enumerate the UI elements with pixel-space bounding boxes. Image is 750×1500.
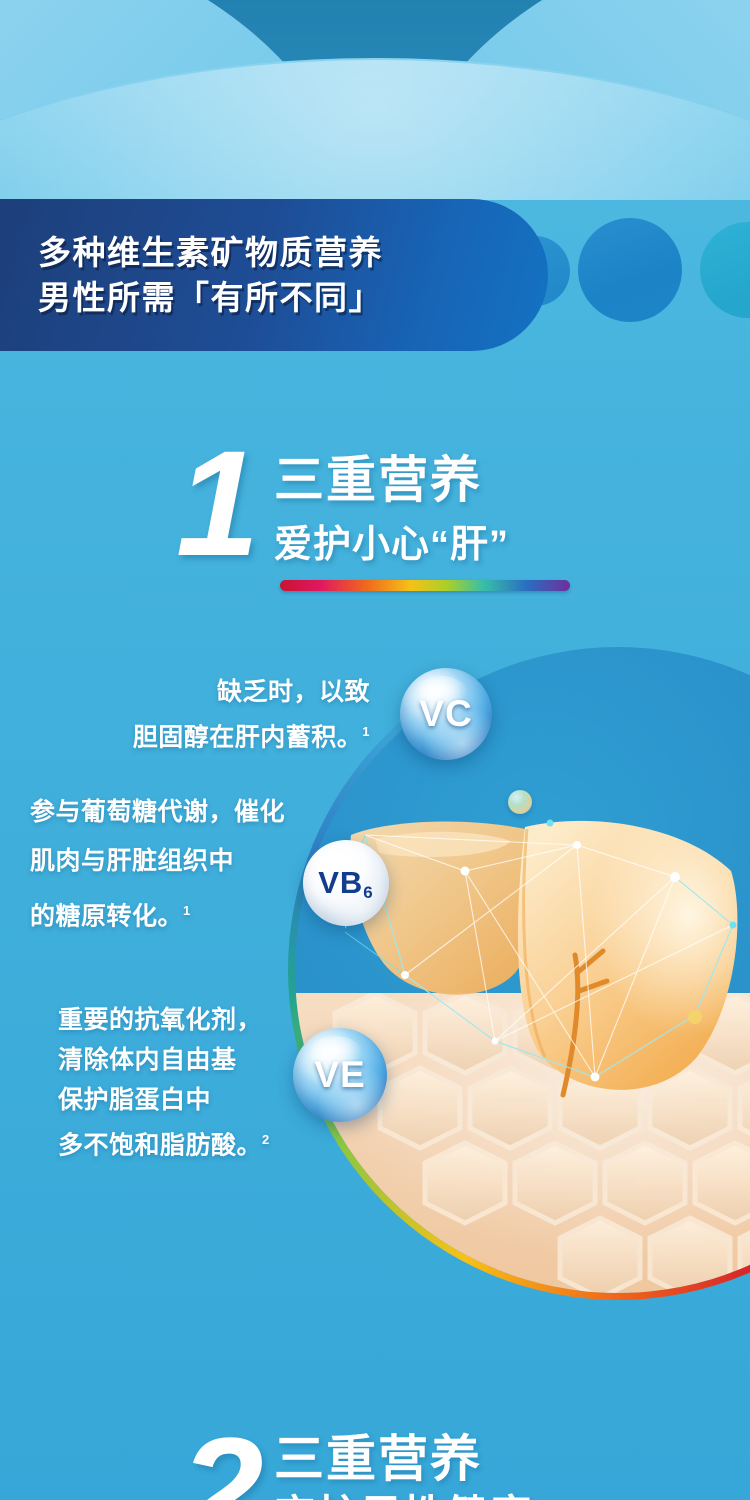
mini-bubble-icon (508, 790, 532, 814)
nutrient-vb6-line-3-text: 的糖原转化。 (30, 902, 183, 930)
nutrient-vb6-line-3: 的糖原转化。1 (30, 886, 320, 941)
nutrient-vc-line-2: 胆固醇在肝内蓄积。1 (120, 712, 370, 757)
section-1-heading: 1 三重营养 爱护小心“肝” (0, 420, 750, 605)
vitamin-badge-vb6-label: VB6 (318, 865, 374, 901)
top-decoration (0, 0, 750, 200)
nutrient-ve-footnote: 2 (262, 1132, 270, 1147)
nutrient-vc-footnote: 1 (362, 724, 370, 739)
nutrient-ve-line-2: 清除体内自由基 (58, 1040, 288, 1080)
product-detail-page: 多种维生素矿物质营养 男性所需「有所不同」 1 三重营养 爱护小心“肝” (0, 0, 750, 1500)
section-1-title: 三重营养 (274, 452, 482, 508)
nutrient-text-vb6: 参与葡萄糖代谢，催化 肌肉与肝脏组织中 的糖原转化。1 (30, 788, 320, 941)
section-2-heading: 2 三重营养 守护男性健康 (0, 1415, 750, 1500)
vitamin-badge-vb6-main: VB (318, 865, 363, 900)
headline-line-2: 男性所需「有所不同」 (38, 275, 548, 320)
headline-line-1: 多种维生素矿物质营养 (38, 230, 548, 275)
section-1-number: 1 (176, 428, 253, 578)
liver-organ-illustration (345, 805, 745, 1135)
nutrient-vb6-line-2: 肌肉与肝脏组织中 (30, 837, 320, 886)
decor-circle-right (700, 222, 750, 318)
headline-banner: 多种维生素矿物质营养 男性所需「有所不同」 (0, 199, 548, 351)
rainbow-accent-bar (280, 580, 570, 591)
section-2-title: 三重营养 (274, 1431, 482, 1487)
nutrient-vc-line-1: 缺乏时，以致 (120, 672, 370, 712)
nutrient-vb6-line-1: 参与葡萄糖代谢，催化 (30, 788, 320, 837)
liver-illustration-stage (0, 600, 750, 1360)
vitamin-badge-vb6-subscript: 6 (363, 883, 373, 902)
nutrient-text-ve: 重要的抗氧化剂， 清除体内自由基 保护脂蛋白中 多不饱和脂肪酸。2 (58, 1000, 288, 1165)
section-2-number: 2 (180, 1415, 257, 1500)
nutrient-ve-line-1: 重要的抗氧化剂， (58, 1000, 288, 1040)
vitamin-badge-ve: VE (293, 1028, 387, 1122)
nutrient-ve-line-4: 多不饱和脂肪酸。2 (58, 1120, 288, 1165)
nutrient-text-vc: 缺乏时，以致 胆固醇在肝内蓄积。1 (120, 672, 370, 757)
section-1-subtitle: 爱护小心“肝” (274, 522, 509, 568)
nutrient-vc-line-2-text: 胆固醇在肝内蓄积。 (133, 723, 363, 751)
nutrient-ve-line-4-text: 多不饱和脂肪酸。 (58, 1131, 262, 1159)
nutrient-vb6-footnote: 1 (183, 903, 191, 918)
vitamin-badge-ve-label: VE (314, 1054, 365, 1096)
section-2-subtitle: 守护男性健康 (274, 1491, 532, 1500)
decor-circle-medium (578, 218, 682, 322)
nutrient-ve-line-3: 保护脂蛋白中 (58, 1080, 288, 1120)
vitamin-badge-vc-label: VC (419, 693, 472, 735)
vitamin-badge-vc: VC (400, 668, 492, 760)
